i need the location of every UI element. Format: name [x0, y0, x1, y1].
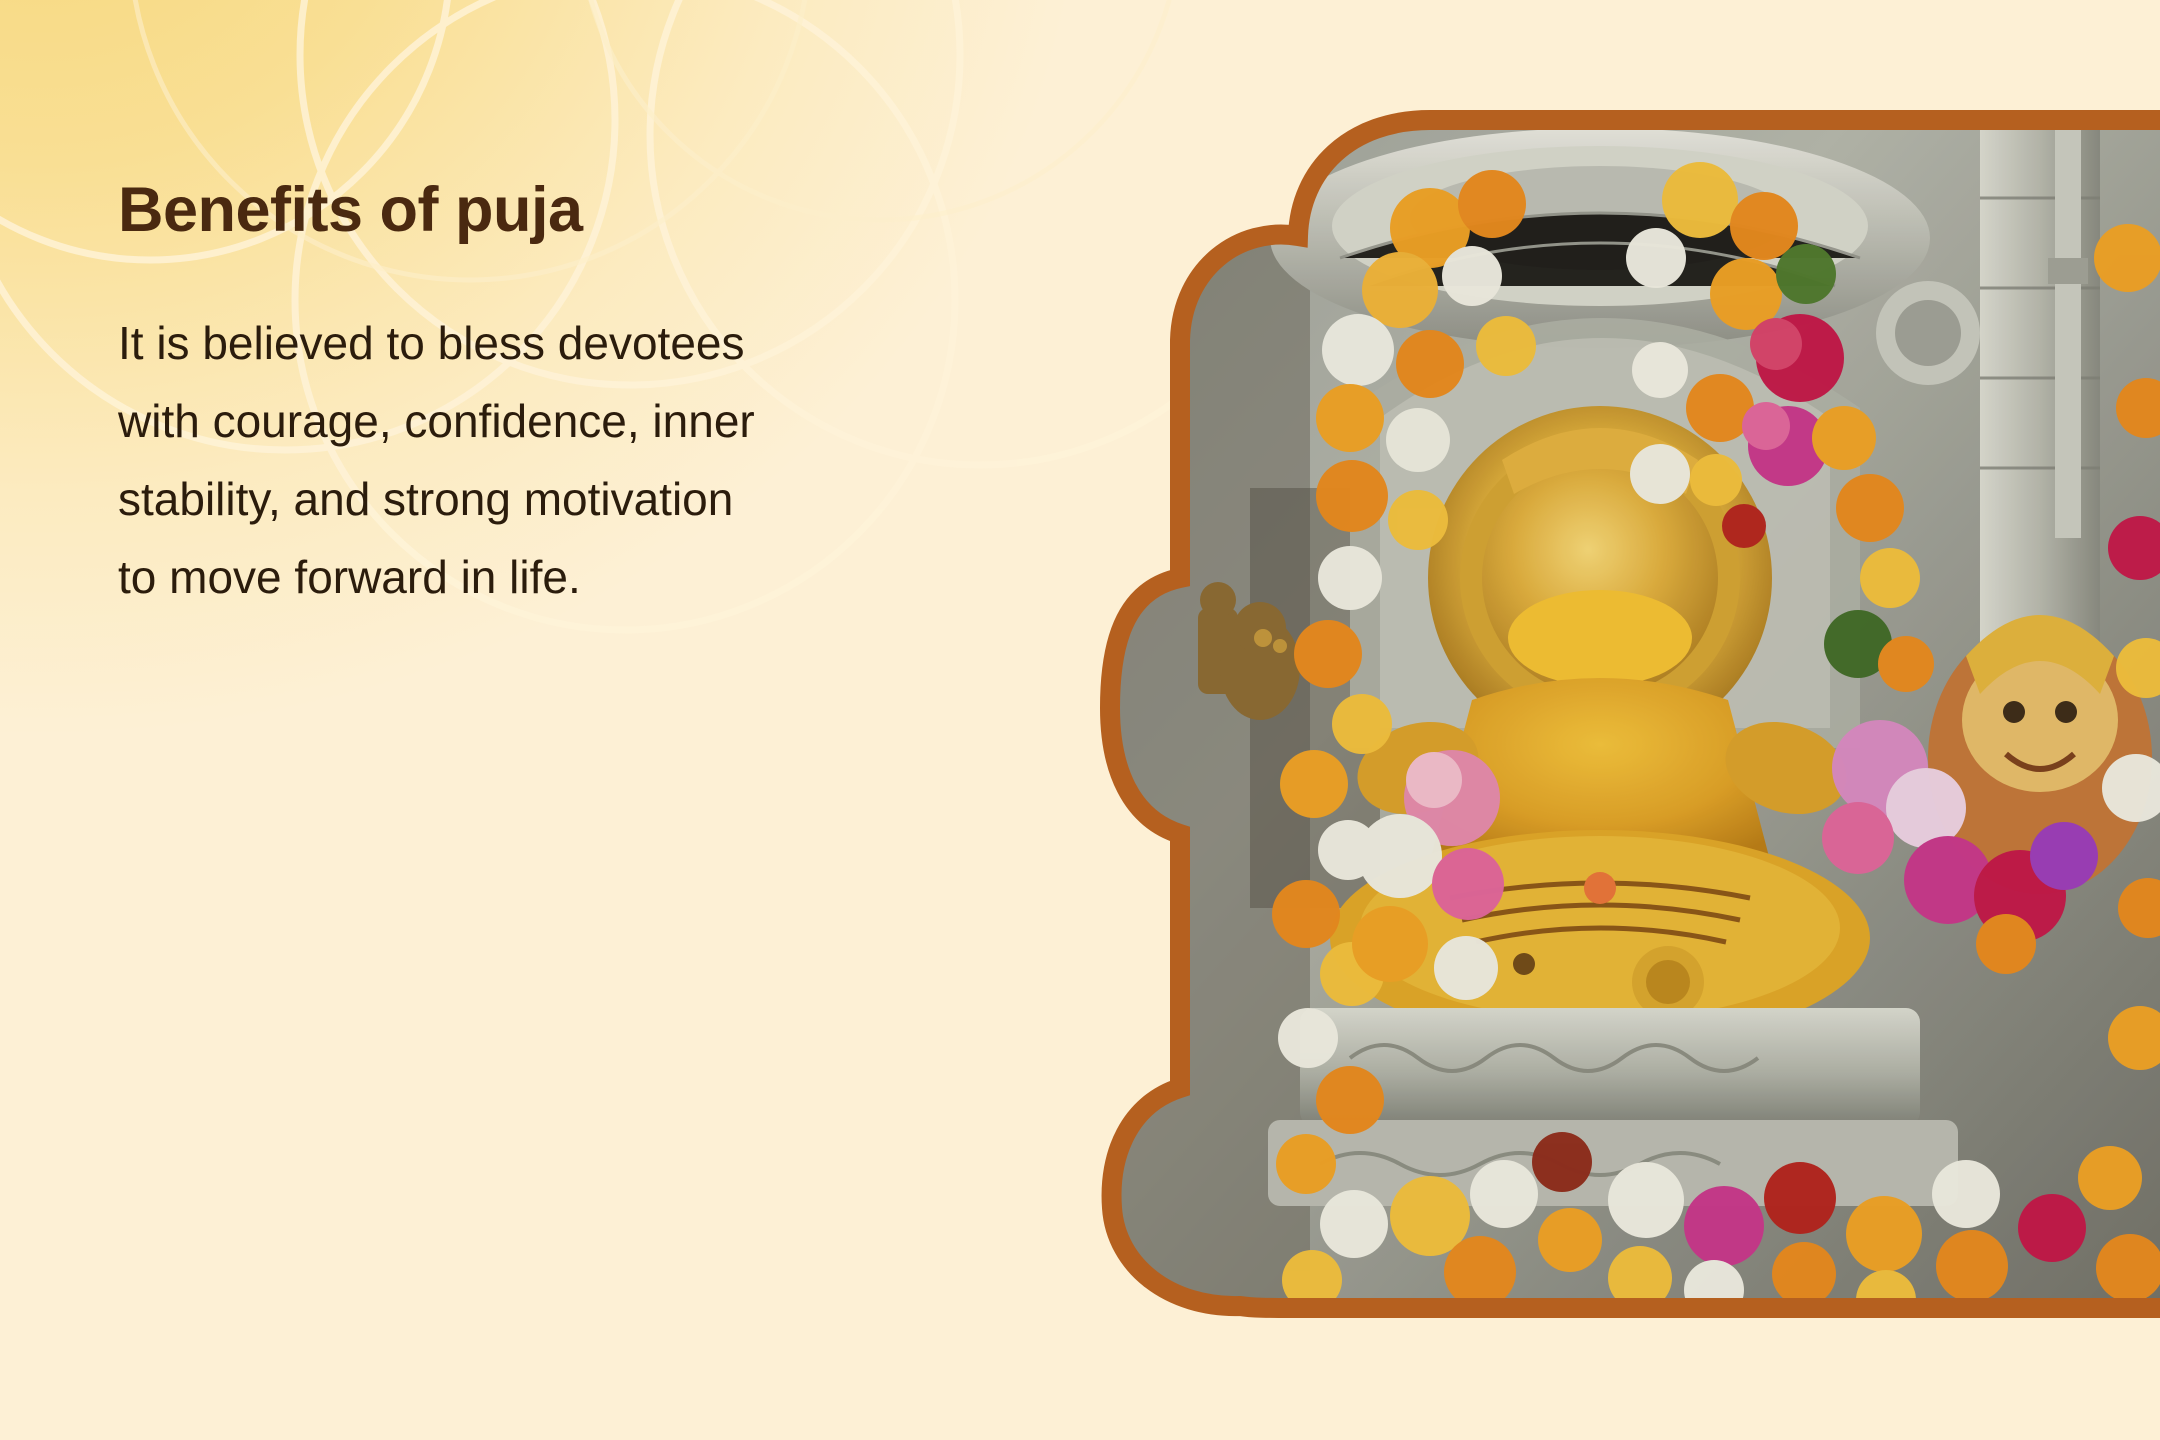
text-column: Benefits of puja It is believed to bless… [118, 175, 1018, 616]
slide-canvas: Benefits of puja It is believed to bless… [0, 0, 2160, 1440]
page-title: Benefits of puja [118, 175, 1018, 246]
body-paragraph: It is believed to bless devotees with co… [118, 304, 758, 616]
deity-photo-frame [1100, 108, 2160, 1320]
